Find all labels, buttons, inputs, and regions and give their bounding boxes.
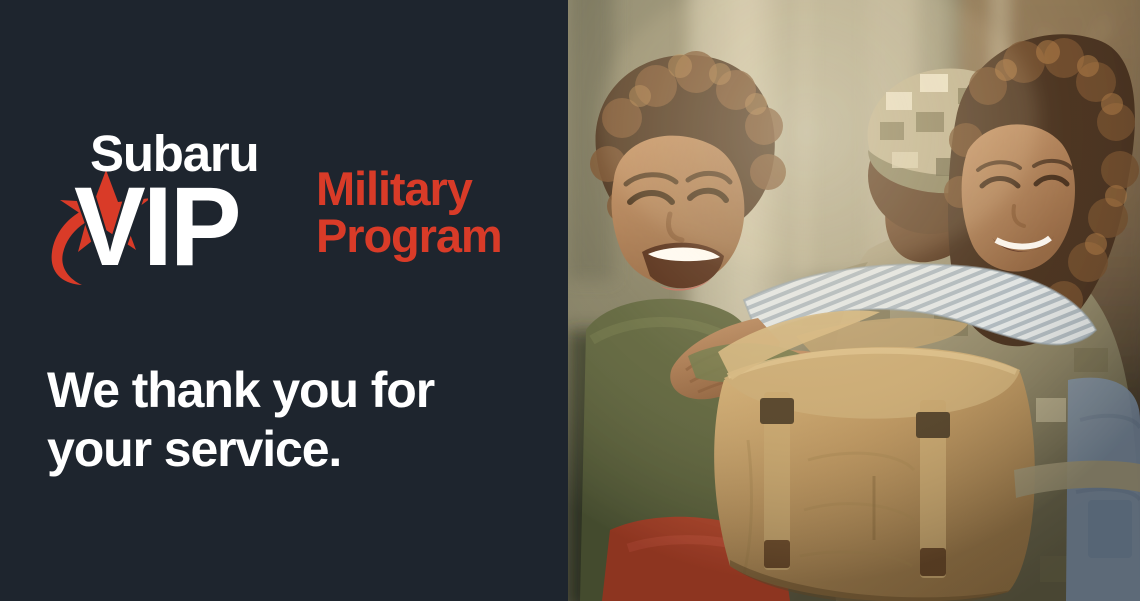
military-program-line-1: Military (316, 166, 502, 213)
left-content-panel: Subaru VIP Military Program We thank you… (0, 0, 568, 601)
subaru-vip-military-program-banner: Subaru VIP Military Program We thank you… (0, 0, 1140, 601)
military-program-line-2: Program (316, 213, 502, 260)
tagline-line-1: We thank you for (47, 361, 527, 420)
tagline: We thank you for your service. (47, 361, 527, 479)
vip-wordmark: VIP (74, 171, 239, 283)
military-program-wordmark: Military Program (316, 166, 502, 259)
tagline-line-2: your service. (47, 420, 527, 479)
family-reunion-photo (568, 0, 1140, 601)
subaru-vip-military-program-logo: Subaru VIP Military Program (48, 128, 548, 293)
